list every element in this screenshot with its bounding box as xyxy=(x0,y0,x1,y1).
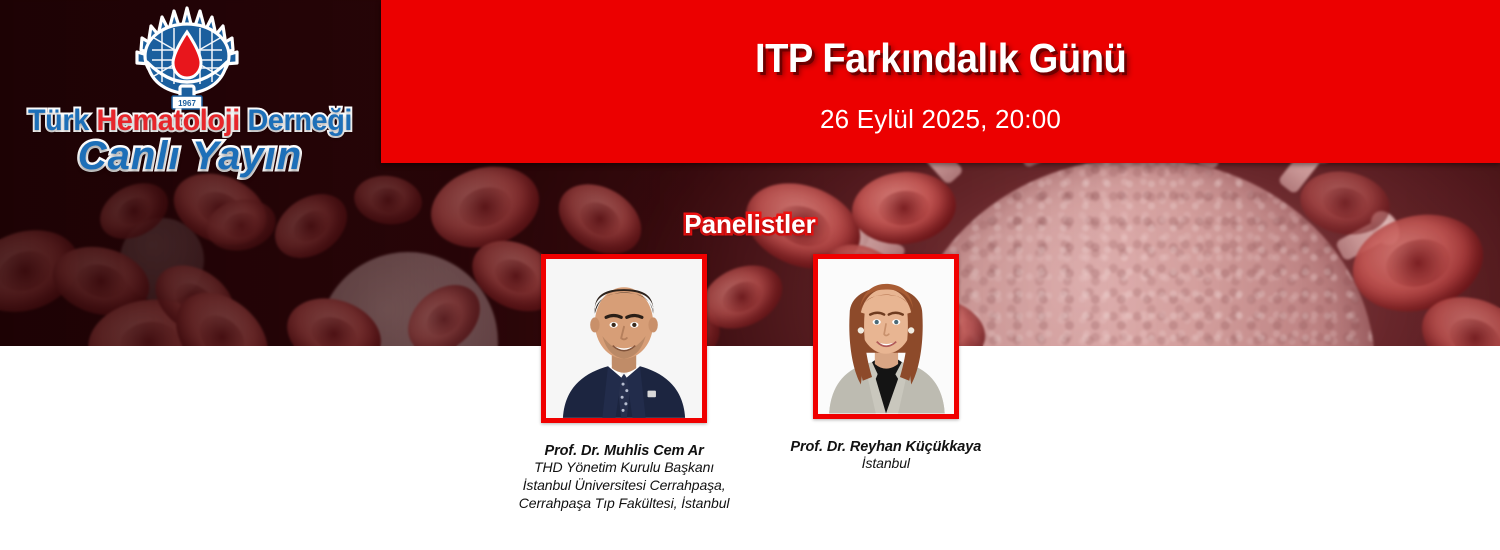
panelist-info: Prof. Dr. Muhlis Cem Ar THD Yönetim Kuru… xyxy=(519,443,730,513)
event-banner: ITP Farkındalık Günü 26 Eylül 2025, 20:0… xyxy=(381,0,1500,163)
panelists-heading: Panelistler xyxy=(0,209,1500,240)
panelist-photo-frame xyxy=(813,254,959,419)
panelists-list: Prof. Dr. Muhlis Cem Ar THD Yönetim Kuru… xyxy=(0,254,1500,513)
webinar-announcement-banner: ITP Farkındalık Günü 26 Eylül 2025, 20:0… xyxy=(0,0,1500,550)
panelist-photo-frame xyxy=(541,254,707,423)
panelist-info: Prof. Dr. Reyhan Küçükkaya İstanbul xyxy=(790,439,981,473)
avatar xyxy=(818,259,954,414)
panelist-name: Prof. Dr. Reyhan Küçükkaya xyxy=(790,439,981,455)
hematology-tree-emblem-icon: 1967 xyxy=(122,6,252,110)
panelist-affiliation-line: İstanbul Üniversitesi Cerrahpaşa, xyxy=(519,477,730,495)
event-datetime: 26 Eylül 2025, 20:00 xyxy=(820,104,1061,135)
avatar xyxy=(546,259,702,418)
panelist-affiliation-line: İstanbul xyxy=(790,455,981,473)
list-item: Prof. Dr. Muhlis Cem Ar THD Yönetim Kuru… xyxy=(519,254,730,513)
live-broadcast-label: Canlı Yayın xyxy=(14,134,366,179)
org-name-word-3: Derneği xyxy=(247,104,352,137)
panelist-name: Prof. Dr. Muhlis Cem Ar xyxy=(519,443,730,459)
panelist-affiliation-line: THD Yönetim Kurulu Başkanı xyxy=(519,459,730,477)
organization-name: Türk Hematoloji Derneği xyxy=(21,104,359,138)
page-title: ITP Farkındalık Günü xyxy=(755,35,1126,82)
org-name-word-1: Türk xyxy=(28,104,89,137)
list-item: Prof. Dr. Reyhan Küçükkaya İstanbul xyxy=(790,254,981,473)
panelist-affiliation-line: Cerrahpaşa Tıp Fakültesi, İstanbul xyxy=(519,495,730,513)
org-name-word-2: Hematoloji xyxy=(96,104,239,137)
organization-logo: 1967 Türk Hematoloji Derneği Canlı Yayın xyxy=(14,4,366,180)
